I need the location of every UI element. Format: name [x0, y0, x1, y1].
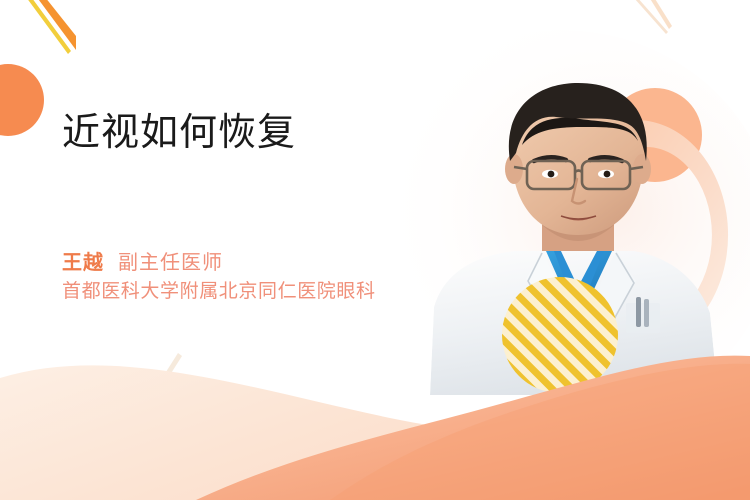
faint-diagonal-line-top-right-a [634, 0, 668, 34]
faint-diagonal-line-bottom-left [152, 353, 182, 397]
doctor-portrait-illustration [430, 75, 730, 395]
video-cover-card: 近视如何恢复 王越 副主任医师 首都医科大学附属北京同仁医院眼科 [0, 0, 750, 500]
doctor-affiliation: 首都医科大学附属北京同仁医院眼科 [62, 279, 392, 304]
orange-circle-left [0, 64, 44, 136]
pupil-right [604, 171, 611, 178]
doctor-rank: 副主任医师 [118, 246, 223, 275]
doctor-portrait [430, 75, 730, 395]
byline-block: 王越 副主任医师 首都医科大学附属北京同仁医院眼科 [62, 246, 442, 304]
pupil-left [548, 171, 555, 178]
pen-in-pocket [636, 297, 641, 327]
byline-name-row: 王越 副主任医师 [62, 246, 442, 275]
pen-in-pocket-2 [644, 299, 649, 327]
lab-coat [430, 247, 718, 395]
thin-yellow-diagonal-line [26, 0, 71, 54]
tapered-orange-diagonal-stripe [33, 0, 76, 50]
coat-pocket [626, 303, 660, 333]
headline-block: 近视如何恢复 [62, 112, 422, 156]
page-title: 近视如何恢复 [62, 112, 422, 156]
doctor-name: 王越 [62, 246, 104, 275]
faint-diagonal-line-top-right-b [649, 0, 672, 29]
